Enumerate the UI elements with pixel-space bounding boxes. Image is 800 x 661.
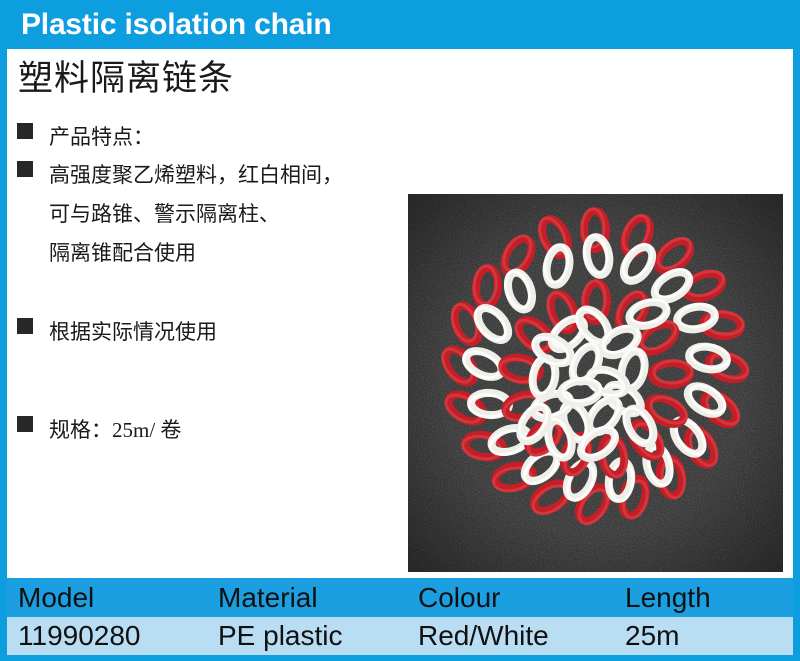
spec-value-length: 25m [614,620,793,652]
table-row: 11990280 PE plastic Red/White 25m [7,617,793,655]
product-photo [408,194,783,572]
spec-table-header-row: Model Material Colour Length [7,578,793,617]
spec-table: Model Material Colour Length 11990280 PE… [7,578,793,655]
feature-text: 规格：25m/ 卷 [49,411,181,449]
spec-header-length: Length [614,582,793,614]
bullet-square-icon [17,123,33,139]
feature-line: 可与路锥、警示隔离柱、 [49,195,343,234]
feature-item: 根据实际情况使用 [0,313,400,351]
feature-list: 产品特点： 高强度聚乙烯塑料，红白相间， 可与路锥、警示隔离柱、 隔离锥配合使用… [0,118,400,449]
product-photo-image [408,194,783,572]
page-title-english: Plastic isolation chain [21,7,332,43]
page-title-chinese: 塑料隔离链条 [18,58,234,100]
spec-value-colour: Red/White [407,620,614,652]
feature-text: 根据实际情况使用 [49,313,217,351]
bullet-square-icon [17,318,33,334]
spec-value-material: PE plastic [207,620,407,652]
feature-line: 高强度聚乙烯塑料，红白相间， [49,156,343,195]
bullet-square-icon [17,416,33,432]
bullet-square-icon [17,161,33,177]
frame-border-bottom [0,655,800,661]
header-banner: Plastic isolation chain [0,0,800,49]
list-spacer [0,273,400,313]
product-spec-sheet: Plastic isolation chain 塑料隔离链条 产品特点： 高强度… [0,0,800,661]
feature-item: 高强度聚乙烯塑料，红白相间， 可与路锥、警示隔离柱、 隔离锥配合使用 [0,156,400,273]
feature-line: 规格：25m/ 卷 [49,411,181,449]
frame-border-right [793,0,800,661]
spec-value-model: 11990280 [7,620,207,652]
feature-line: 根据实际情况使用 [49,313,217,351]
feature-item: 规格：25m/ 卷 [0,411,400,449]
spec-header-material: Material [207,582,407,614]
spec-header-colour: Colour [407,582,614,614]
feature-line: 产品特点： [49,118,154,156]
spec-header-model: Model [7,582,207,614]
feature-line: 隔离锥配合使用 [49,234,343,273]
feature-text: 高强度聚乙烯塑料，红白相间， 可与路锥、警示隔离柱、 隔离锥配合使用 [49,156,343,273]
feature-item: 产品特点： [0,118,400,156]
list-spacer [0,351,400,411]
feature-text: 产品特点： [49,118,154,156]
